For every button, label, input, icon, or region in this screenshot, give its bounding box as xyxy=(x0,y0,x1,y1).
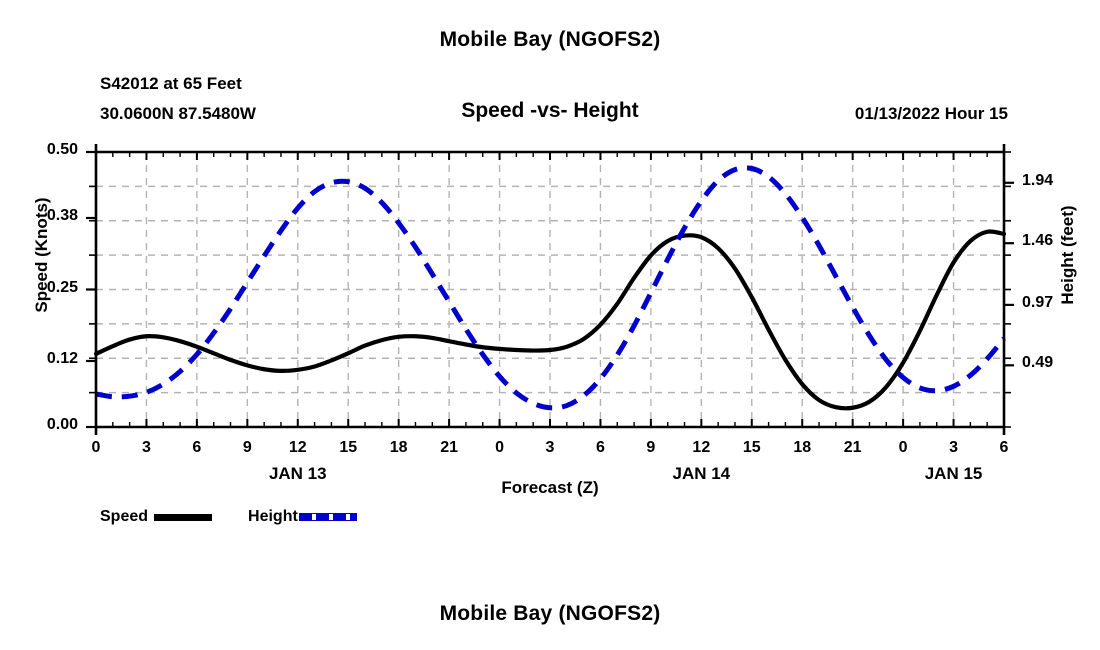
x-axis-day-label: JAN 14 xyxy=(621,464,781,484)
y-axis-right-tick-label: 0.49 xyxy=(1022,354,1092,372)
x-axis-tick-label: 12 xyxy=(681,439,721,457)
x-axis-tick-label: 0 xyxy=(76,439,116,457)
x-axis-tick-label: 15 xyxy=(328,439,368,457)
legend-swatch-speed xyxy=(154,514,212,521)
y-axis-right-tick-label: 0.97 xyxy=(1022,294,1092,312)
legend-label-speed: Speed xyxy=(100,508,148,526)
y-axis-left-tick-label: 0.12 xyxy=(8,350,78,368)
x-axis-tick-label: 6 xyxy=(984,439,1024,457)
x-axis-tick-label: 0 xyxy=(883,439,923,457)
x-axis-tick-label: 9 xyxy=(227,439,267,457)
x-axis-tick-label: 18 xyxy=(379,439,419,457)
chart-plot-area xyxy=(0,0,1100,650)
y-axis-left-tick-label: 0.25 xyxy=(8,279,78,297)
y-axis-left-tick-label: 0.50 xyxy=(8,141,78,159)
chart-legend: Speed Height xyxy=(100,508,357,526)
x-axis-tick-label: 3 xyxy=(934,439,974,457)
legend-swatch-height xyxy=(299,513,357,521)
x-axis-tick-label: 18 xyxy=(782,439,822,457)
page-title-bottom: Mobile Bay (NGOFS2) xyxy=(0,602,1100,626)
legend-label-height: Height xyxy=(248,508,298,526)
x-axis-tick-label: 3 xyxy=(530,439,570,457)
x-axis-tick-label: 6 xyxy=(580,439,620,457)
x-axis-tick-label: 6 xyxy=(177,439,217,457)
y-axis-left-tick-label: 0.38 xyxy=(8,207,78,225)
x-axis-tick-label: 21 xyxy=(833,439,873,457)
x-axis-tick-label: 15 xyxy=(732,439,772,457)
y-axis-right-tick-label: 1.94 xyxy=(1022,172,1092,190)
x-axis-tick-label: 3 xyxy=(126,439,166,457)
x-axis-tick-label: 9 xyxy=(631,439,671,457)
x-axis-day-label: JAN 13 xyxy=(218,464,378,484)
x-axis-day-label: JAN 15 xyxy=(874,464,1034,484)
legend-item-speed: Speed xyxy=(100,508,212,526)
x-axis-tick-label: 0 xyxy=(480,439,520,457)
y-axis-left-tick-label: 0.00 xyxy=(8,416,78,434)
y-axis-left-title: Speed (Knots) xyxy=(32,175,52,335)
x-axis-tick-label: 12 xyxy=(278,439,318,457)
y-axis-right-tick-label: 1.46 xyxy=(1022,232,1092,250)
x-axis-tick-label: 21 xyxy=(429,439,469,457)
legend-item-height: Height xyxy=(248,508,357,526)
